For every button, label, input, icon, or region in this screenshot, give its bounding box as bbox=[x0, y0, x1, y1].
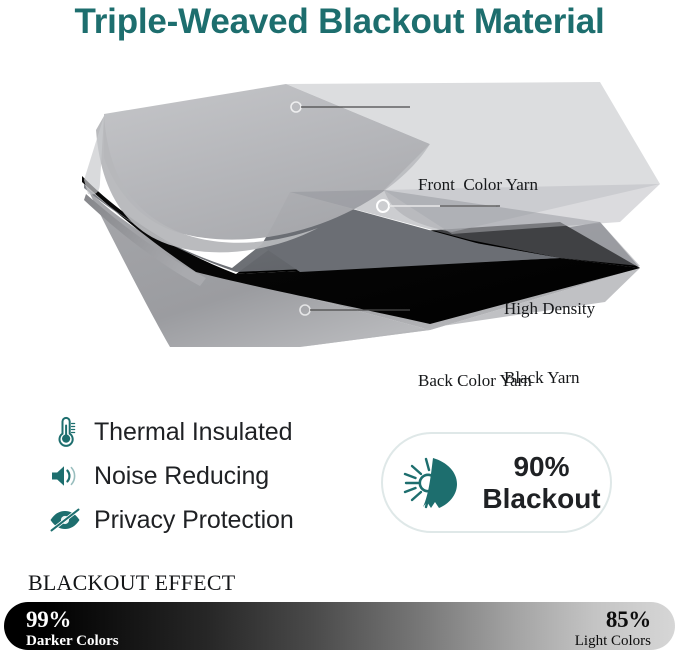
page-title: Triple-Weaved Blackout Material bbox=[0, 2, 679, 42]
sun-behind-curtain-icon bbox=[397, 450, 467, 516]
blackout-badge: 90% Blackout bbox=[381, 432, 612, 533]
label-front-color-yarn: Front Color Yarn bbox=[418, 174, 538, 197]
feature-label-noise-reducing: Noise Reducing bbox=[94, 462, 269, 491]
speaker-sound-icon bbox=[48, 459, 82, 493]
bar-right-percent: 85% bbox=[575, 608, 651, 631]
blackout-effect-heading: BLACKOUT EFFECT bbox=[28, 570, 235, 596]
eye-slash-icon bbox=[48, 503, 82, 537]
feature-label-thermal-insulated: Thermal Insulated bbox=[94, 418, 292, 447]
feature-item-noise-reducing: Noise Reducing bbox=[48, 454, 358, 498]
fabric-layer-diagram: Front Color Yarn High Density Black Yarn… bbox=[0, 72, 679, 347]
label-back-color-yarn: Back Color Yarn bbox=[418, 370, 532, 393]
blackout-effect-gradient-bar: 99% Darker Colors 85% Light Colors bbox=[4, 602, 675, 650]
label-high-density-line1: High Density bbox=[504, 298, 595, 321]
bar-left-percent: 99% bbox=[26, 608, 119, 631]
feature-label-privacy-protection: Privacy Protection bbox=[94, 506, 294, 535]
blackout-badge-text: 90% Blackout bbox=[473, 451, 610, 514]
feature-item-thermal-insulated: Thermal Insulated bbox=[48, 410, 358, 454]
feature-item-privacy-protection: Privacy Protection bbox=[48, 498, 358, 542]
thermometer-icon bbox=[48, 415, 82, 449]
label-high-density-black-yarn: High Density Black Yarn bbox=[504, 252, 595, 436]
bar-right-group: 85% Light Colors bbox=[575, 608, 651, 649]
blackout-word: Blackout bbox=[473, 483, 610, 514]
bar-right-label: Light Colors bbox=[575, 634, 651, 649]
bar-left-group: 99% Darker Colors bbox=[26, 608, 119, 649]
bar-left-label: Darker Colors bbox=[26, 634, 119, 649]
feature-list: Thermal Insulated Noise Reducing bbox=[48, 410, 358, 542]
infographic-page: Triple-Weaved Blackout Material bbox=[0, 0, 679, 655]
blackout-percent: 90% bbox=[473, 451, 610, 482]
layer-stack-left-edge bbox=[84, 116, 104, 195]
